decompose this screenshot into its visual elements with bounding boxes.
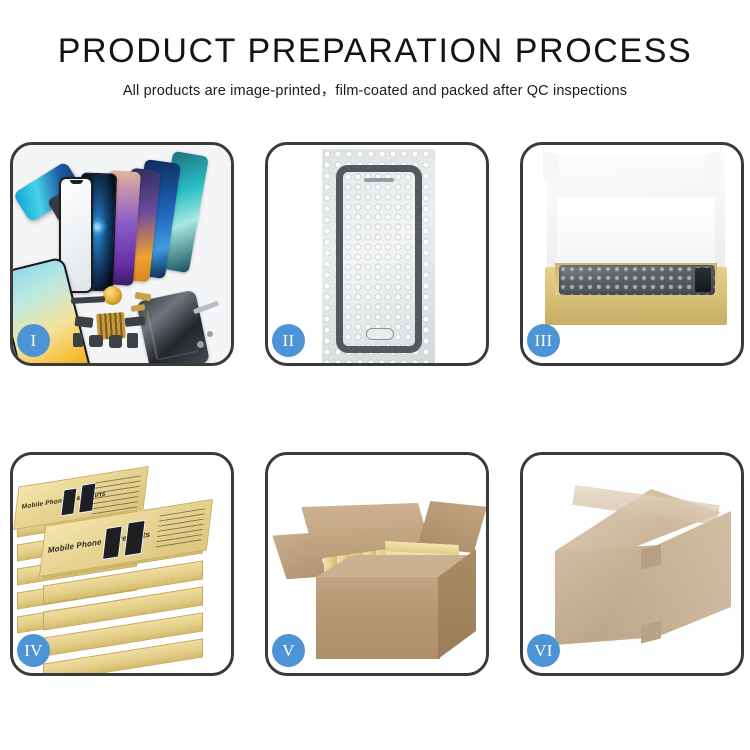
step-panel-v[interactable]: V: [265, 452, 489, 676]
carton-corner-seam: [641, 621, 661, 644]
step-badge-iv: IV: [17, 634, 50, 667]
screw-part: [197, 341, 204, 348]
packed-phone-screen: [559, 265, 715, 295]
step-panel-i[interactable]: I: [10, 142, 234, 366]
home-button-cutout: [366, 328, 394, 340]
lid-phone-graphic: [102, 525, 123, 560]
product-preparation-infographic: PRODUCT PREPARATION PROCESS All products…: [0, 0, 750, 750]
step-badge-ii: II: [272, 324, 305, 357]
box-flap-right: [705, 151, 721, 184]
speaker-part-icon: [103, 286, 122, 305]
step-badge-i: I: [17, 324, 50, 357]
step-panel-iii[interactable]: III: [520, 142, 744, 366]
process-steps-grid: I II III: [10, 142, 740, 678]
lid-spec-text-lines: [156, 508, 205, 548]
lid-spec-text-lines: [91, 475, 140, 515]
step-panel-vi[interactable]: VI: [520, 452, 744, 676]
button-part: [135, 292, 152, 302]
flex-cable-part: [71, 296, 105, 304]
lid-phone-graphic: [60, 487, 77, 516]
box-flap-left: [543, 151, 559, 184]
lid-phone-graphic: [124, 520, 146, 557]
page-title: PRODUCT PREPARATION PROCESS: [0, 0, 750, 70]
battery-connector-part: [127, 333, 138, 348]
sim-tray-part: [73, 333, 83, 347]
step-panel-iv[interactable]: Mobile Phone Spare Parts Mobile Phone Sp…: [10, 452, 234, 676]
header: PRODUCT PREPARATION PROCESS All products…: [0, 0, 750, 100]
camera-module-part: [75, 316, 94, 328]
vibration-motor-part: [89, 335, 103, 347]
wrapped-phone-screen: [336, 165, 422, 353]
step-badge-v: V: [272, 634, 305, 667]
carton-front-face: [316, 577, 440, 659]
receiver-part: [109, 335, 122, 348]
page-subtitle: All products are image-printed，film-coat…: [0, 70, 750, 100]
step-badge-vi: VI: [527, 634, 560, 667]
earpiece-slot: [364, 178, 394, 182]
foam-liner: [557, 197, 715, 269]
step-badge-iii: III: [527, 324, 560, 357]
screw-part: [207, 331, 213, 337]
step-panel-ii[interactable]: II: [265, 142, 489, 366]
